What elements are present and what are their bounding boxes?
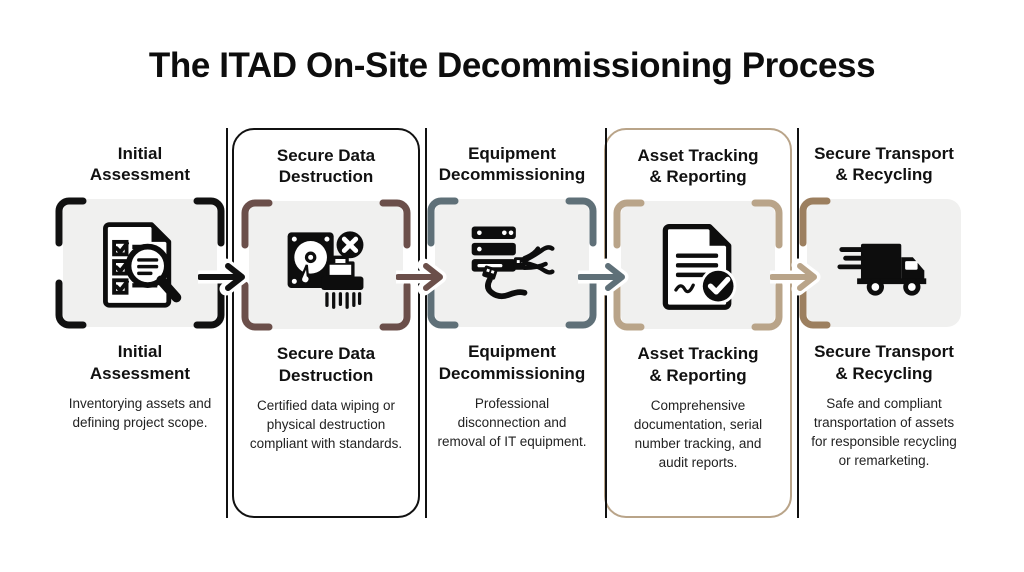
step-icon-tile [807,199,961,327]
step-description: Safe and compliant transportation of ass… [792,394,976,471]
step-icon-tile [63,199,217,327]
step-icon-tile [435,199,589,327]
itad-process-infographic: The ITAD On-Site Decommissioning Process… [0,0,1024,572]
step-title: Initial Assessment [86,341,194,383]
step-description: Certified data wiping or physical destru… [234,396,418,453]
page-title: The ITAD On-Site Decommissioning Process [0,46,1024,86]
step-title: Secure Transport & Recycling [810,341,958,383]
process-step-equipment-decommissioning[interactable]: Equipment Decommissioning [420,128,604,518]
clipboard-magnifier-icon [88,215,192,311]
step-description: Professional disconnection and removal o… [420,394,604,451]
document-check-icon [646,217,750,313]
harddrive-shredder-icon [274,217,378,313]
step-title: Equipment Decommissioning [435,341,589,383]
step-divider-4 [797,128,799,518]
step-icon-tile [249,201,403,329]
server-unplug-icon [460,215,564,311]
step-title: Secure Data Destruction [273,343,379,385]
process-step-initial-assessment[interactable]: Initial Assessment [48,128,232,518]
step-header-label: Equipment Decommissioning [433,144,591,185]
step-divider-1 [226,128,228,518]
step-icon-tile [621,201,775,329]
step-header-label: Secure Transport & Recycling [808,144,960,185]
step-title: Asset Tracking & Reporting [634,343,763,385]
step-divider-3 [605,128,607,518]
process-step-asset-tracking-reporting[interactable]: Asset Tracking & Reporting [604,128,792,518]
process-step-secure-data-destruction[interactable]: Secure Data Destruction [232,128,420,518]
step-header-label: Initial Assessment [84,144,196,185]
delivery-truck-icon [832,215,936,311]
process-step-secure-transport-recycling[interactable]: Secure Transport & Recycling [792,128,976,518]
step-description: Inventorying assets and defining project… [48,394,232,432]
process-steps-rail: Initial Assessment [48,128,976,518]
step-description: Comprehensive documentation, serial numb… [606,396,790,473]
step-header-label: Secure Data Destruction [271,146,381,187]
step-header-label: Asset Tracking & Reporting [632,146,765,187]
step-divider-2 [425,128,427,518]
